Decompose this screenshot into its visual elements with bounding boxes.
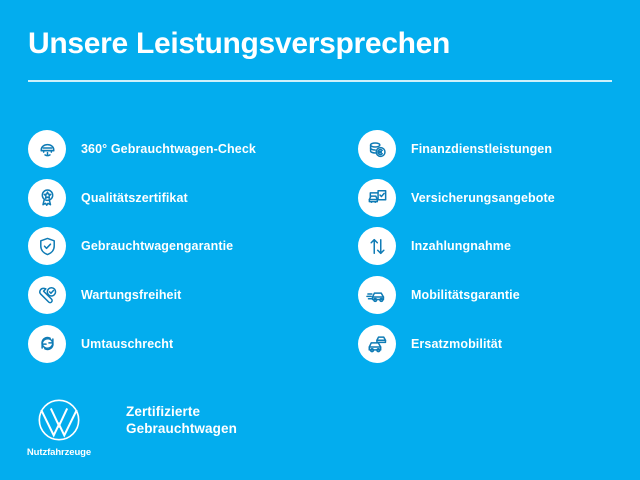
page-title: Unsere Leistungsversprechen	[28, 28, 612, 60]
wrench-check-icon	[28, 276, 66, 314]
brand-lockup: Nutzfahrzeuge Zertifizierte Gebrauchtwag…	[28, 396, 237, 458]
feature-label: Qualitätszertifikat	[81, 191, 188, 205]
feature-item-mobilitaetsgarantie[interactable]: Mobilitätsgarantie	[358, 271, 640, 320]
feature-label: Wartungsfreiheit	[81, 288, 181, 302]
brand-tagline-line2: Gebrauchtwagen	[126, 420, 237, 437]
feature-label: Gebrauchtwagengarantie	[81, 239, 233, 253]
car-document-check-icon	[358, 179, 396, 217]
page-header: Unsere Leistungsversprechen	[28, 28, 612, 82]
car-front-check-icon	[28, 130, 66, 168]
feature-item-versicherungsangebote[interactable]: Versicherungsangebote	[358, 174, 640, 223]
arrows-up-down-icon	[358, 227, 396, 265]
feature-column-left: 360° Gebrauchtwagen-Check Qualitätszerti…	[28, 125, 358, 368]
feature-item-inzahlungnahme[interactable]: Inzahlungnahme	[358, 222, 640, 271]
feature-item-qualitaetszertifikat[interactable]: Qualitätszertifikat	[28, 174, 358, 223]
exchange-arrows-icon	[28, 325, 66, 363]
volkswagen-logo	[35, 396, 83, 444]
feature-item-umtauschrecht[interactable]: Umtauschrecht	[28, 319, 358, 368]
feature-label: Mobilitätsgarantie	[411, 288, 520, 302]
feature-label: Finanzdienstleistungen	[411, 142, 552, 156]
feature-item-gebrauchtwagengarantie[interactable]: Gebrauchtwagengarantie	[28, 222, 358, 271]
brand-mark: Nutzfahrzeuge	[28, 396, 90, 458]
feature-column-right: Finanzdienstleistungen Versicherungsange…	[358, 125, 640, 368]
feature-label: Umtauschrecht	[81, 337, 173, 351]
shield-check-icon	[28, 227, 66, 265]
brand-tagline-line1: Zertifizierte	[126, 403, 237, 420]
feature-label: Versicherungsangebote	[411, 191, 555, 205]
brand-tagline: Zertifizierte Gebrauchtwagen	[126, 403, 237, 438]
brand-subtitle: Nutzfahrzeuge	[27, 447, 91, 458]
feature-item-finanzdienstleistungen[interactable]: Finanzdienstleistungen	[358, 125, 640, 174]
feature-label: Ersatzmobilität	[411, 337, 502, 351]
title-divider	[28, 80, 612, 82]
feature-item-wartungsfreiheit[interactable]: Wartungsfreiheit	[28, 271, 358, 320]
quality-seal-rosette-icon	[28, 179, 66, 217]
feature-label: 360° Gebrauchtwagen-Check	[81, 142, 256, 156]
feature-label: Inzahlungnahme	[411, 239, 511, 253]
car-motion-icon	[358, 276, 396, 314]
feature-item-gebrauchtwagen-check[interactable]: 360° Gebrauchtwagen-Check	[28, 125, 358, 174]
feature-item-ersatzmobilitaet[interactable]: Ersatzmobilität	[358, 319, 640, 368]
two-cars-icon	[358, 325, 396, 363]
feature-list: 360° Gebrauchtwagen-Check Qualitätszerti…	[0, 125, 640, 368]
coins-euro-icon	[358, 130, 396, 168]
